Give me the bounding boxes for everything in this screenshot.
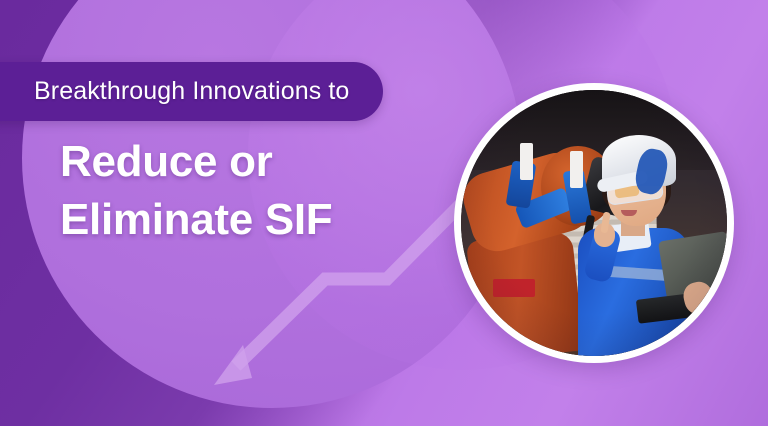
headline-line-1: Reduce or — [60, 137, 272, 186]
headline-line-2: Eliminate SIF — [60, 191, 332, 249]
promo-banner: Breakthrough Innovations to Reduce or El… — [0, 0, 768, 426]
hero-photo — [454, 83, 734, 363]
photo-vignette — [461, 90, 727, 356]
page-title: Reduce or Eliminate SIF — [60, 133, 332, 249]
eyebrow-pill: Breakthrough Innovations to — [0, 62, 383, 121]
eyebrow-text: Breakthrough Innovations to — [34, 77, 349, 106]
hero-photo-image — [461, 90, 727, 356]
